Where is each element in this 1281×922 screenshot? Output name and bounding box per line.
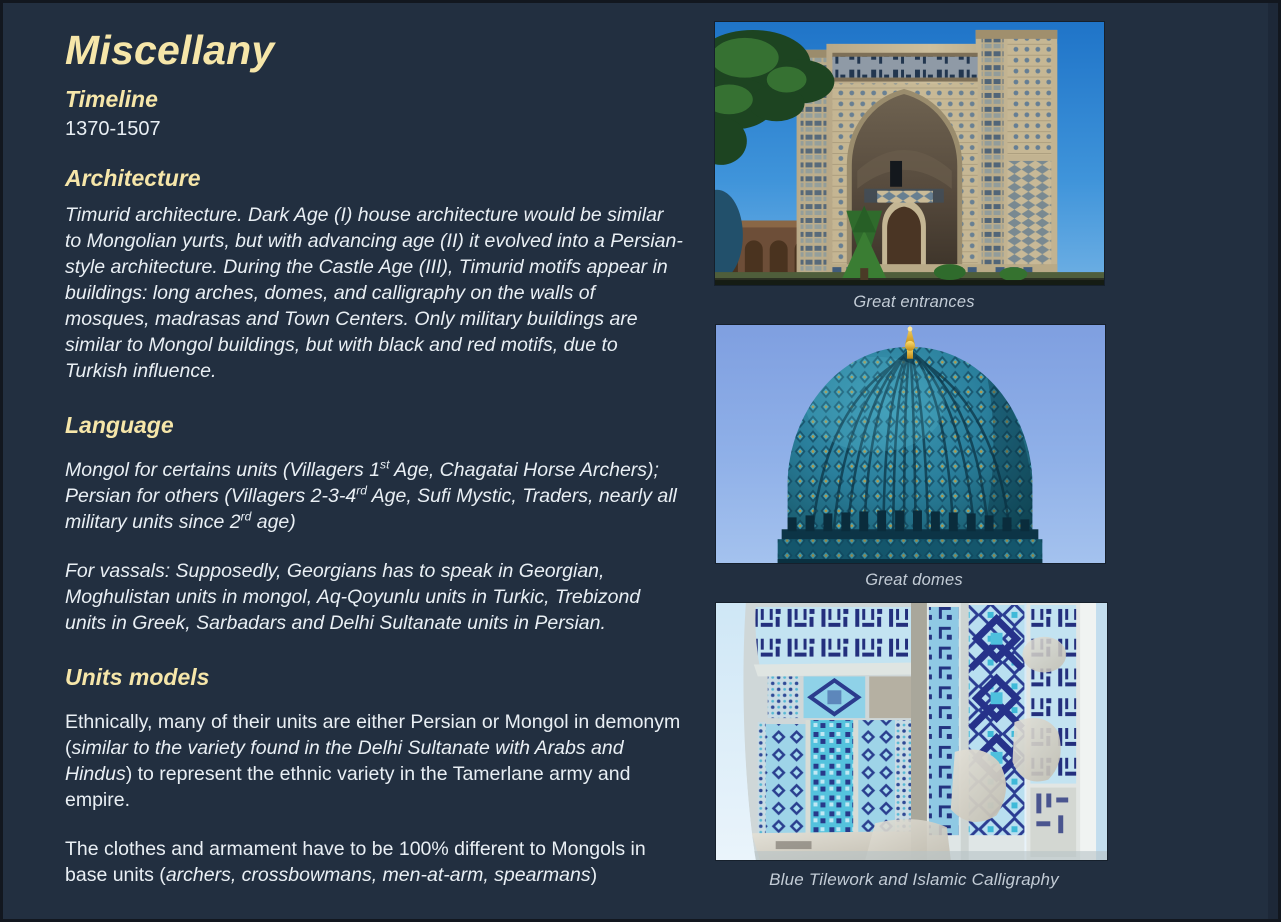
great-entrances-photo [714,21,1105,286]
image-column: Great entrances [714,21,1114,890]
language-paragraph-vassals: For vassals: Supposedly, Georgians has t… [65,558,685,636]
units-text-4: ) [591,864,598,886]
language-text-1: Mongol for certains units (Villagers 1 [65,459,380,481]
ordinal-suffix-3: rd [241,509,252,523]
section-heading-language: Language [65,412,685,440]
units-models-paragraph-2: The clothes and armament have to be 100%… [65,836,685,888]
text-column: Miscellany Timeline 1370-1507 Architectu… [65,27,685,888]
units-text-3-italic: archers, crossbowmans, men-at-arm, spear… [166,864,591,886]
section-heading-architecture: Architecture [65,165,685,193]
section-heading-timeline: Timeline [65,86,685,114]
language-paragraph-units: Mongol for certains units (Villagers 1st… [65,457,685,535]
architecture-paragraph: Timurid architecture. Dark Age (I) house… [65,202,685,384]
caption-great-domes: Great domes [714,564,1114,590]
page-title: Miscellany [65,27,685,74]
section-heading-units-models: Units models [65,664,685,692]
blue-tilework-illustration [716,603,1107,860]
caption-blue-tilework: Blue Tilework and Islamic Calligraphy [714,861,1114,890]
timeline-value: 1370-1507 [65,116,685,143]
figure-great-domes: Great domes [714,324,1114,590]
great-domes-illustration [716,325,1105,563]
figure-great-entrances: Great entrances [714,21,1114,312]
caption-great-entrances: Great entrances [714,286,1114,312]
blue-tilework-photo [715,602,1108,861]
great-entrances-illustration [715,22,1104,285]
slide-canvas: Miscellany Timeline 1370-1507 Architectu… [0,0,1281,922]
units-text-2: ) to represent the ethnic variety in the… [65,763,630,811]
units-models-paragraph-1: Ethnically, many of their units are eith… [65,709,685,813]
figure-blue-tilework: Blue Tilework and Islamic Calligraphy [714,602,1114,890]
language-text-4: age) [251,511,295,533]
ordinal-suffix-2: rd [356,483,367,497]
great-domes-photo [715,324,1106,564]
